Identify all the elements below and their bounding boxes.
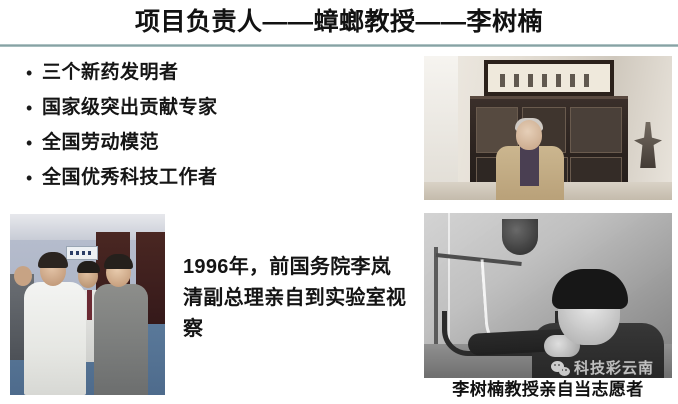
bullet-label: 全国优秀科技工作者 bbox=[42, 163, 218, 193]
bystander-head bbox=[14, 266, 32, 286]
bullet-list: • 三个新药发明者 • 国家级突出贡献专家 • 全国劳动模范 • 全国优秀科技工… bbox=[26, 58, 406, 198]
photo-professor-office bbox=[424, 56, 672, 200]
aide-hair bbox=[77, 261, 100, 273]
bullet-marker-icon: • bbox=[26, 163, 42, 193]
bullet-label: 全国劳动模范 bbox=[42, 128, 159, 158]
photo-volunteer-experiment bbox=[424, 213, 672, 378]
aide-tie bbox=[87, 290, 92, 320]
note-text: 1996年，前国务院李岚清副总理亲自到实验室视察 bbox=[183, 252, 411, 345]
photo-caption: 李树楠教授亲自当志愿者 bbox=[424, 379, 672, 401]
page-title: 项目负责人——蟑螂教授——李树楠 bbox=[135, 10, 543, 35]
list-item: • 国家级突出贡献专家 bbox=[26, 93, 406, 128]
wall-sign bbox=[66, 246, 98, 260]
bullet-marker-icon: • bbox=[26, 128, 42, 158]
professor-shirt bbox=[520, 146, 539, 186]
photo-inspection-1996 bbox=[10, 214, 165, 395]
labcoat-hair bbox=[38, 252, 68, 268]
title-divider bbox=[0, 44, 678, 47]
bullet-label: 三个新药发明者 bbox=[42, 58, 179, 88]
official-body bbox=[94, 284, 148, 395]
title-bar: 项目负责人——蟑螂教授——李树楠 bbox=[0, 2, 678, 42]
slide-canvas: 项目负责人——蟑螂教授——李树楠 • 三个新药发明者 • 国家级突出贡献专家 •… bbox=[0, 0, 678, 404]
bullet-label: 国家级突出贡献专家 bbox=[42, 93, 218, 123]
office-window bbox=[424, 56, 458, 200]
iv-bottle bbox=[502, 219, 538, 255]
list-item: • 三个新药发明者 bbox=[26, 58, 406, 93]
list-item: • 全国优秀科技工作者 bbox=[26, 163, 406, 198]
bullet-marker-icon: • bbox=[26, 58, 42, 88]
official-hair bbox=[104, 254, 133, 269]
professor-head bbox=[516, 120, 542, 150]
cabinet-pane bbox=[570, 107, 622, 153]
note-block: 1996年，前国务院李岚清副总理亲自到实验室视察 bbox=[183, 252, 411, 345]
labcoat-body bbox=[24, 282, 86, 395]
calligraphy-frame bbox=[484, 60, 614, 96]
bullet-marker-icon: • bbox=[26, 93, 42, 123]
list-item: • 全国劳动模范 bbox=[26, 128, 406, 163]
